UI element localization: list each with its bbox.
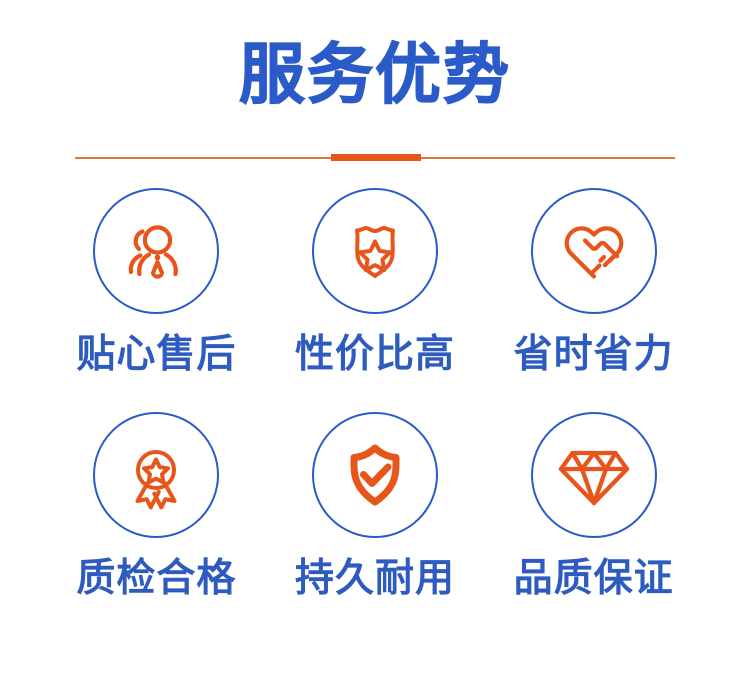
- icon-circle: [531, 412, 657, 538]
- feature-label: 省时省力: [514, 332, 674, 378]
- heart-handshake-icon: [555, 212, 633, 290]
- shield-check-icon: [336, 436, 414, 514]
- feature-label: 品质保证: [514, 556, 674, 602]
- service-advantages-banner: 服务优势: [0, 0, 750, 675]
- title-divider: [75, 154, 675, 162]
- feature-grid: 贴心售后 性价比高: [47, 188, 703, 636]
- icon-circle: [312, 412, 438, 538]
- icon-circle: [93, 412, 219, 538]
- badge-star-shield-icon: [336, 212, 414, 290]
- feature-item-quality-inspected: 质检合格: [47, 412, 266, 636]
- feature-item-after-sales: 贴心售后: [47, 188, 266, 412]
- feature-item-time-saving: 省时省力: [484, 188, 703, 412]
- icon-circle: [93, 188, 219, 314]
- page-header: 服务优势: [0, 34, 750, 116]
- feature-item-quality-guarantee: 品质保证: [484, 412, 703, 636]
- icon-circle: [312, 188, 438, 314]
- icon-circle: [531, 188, 657, 314]
- feature-label: 持久耐用: [295, 556, 455, 602]
- feature-label: 性价比高: [295, 332, 455, 378]
- feature-label: 质检合格: [76, 556, 236, 602]
- feature-label: 贴心售后: [76, 332, 236, 378]
- page-title: 服务优势: [239, 34, 511, 116]
- feature-item-durable: 持久耐用: [266, 412, 485, 636]
- customer-service-people-icon: [117, 212, 195, 290]
- diamond-gem-icon: [555, 436, 633, 514]
- divider-center-bar: [331, 154, 421, 161]
- feature-item-value-for-money: 性价比高: [266, 188, 485, 412]
- award-ribbon-star-icon: [117, 436, 195, 514]
